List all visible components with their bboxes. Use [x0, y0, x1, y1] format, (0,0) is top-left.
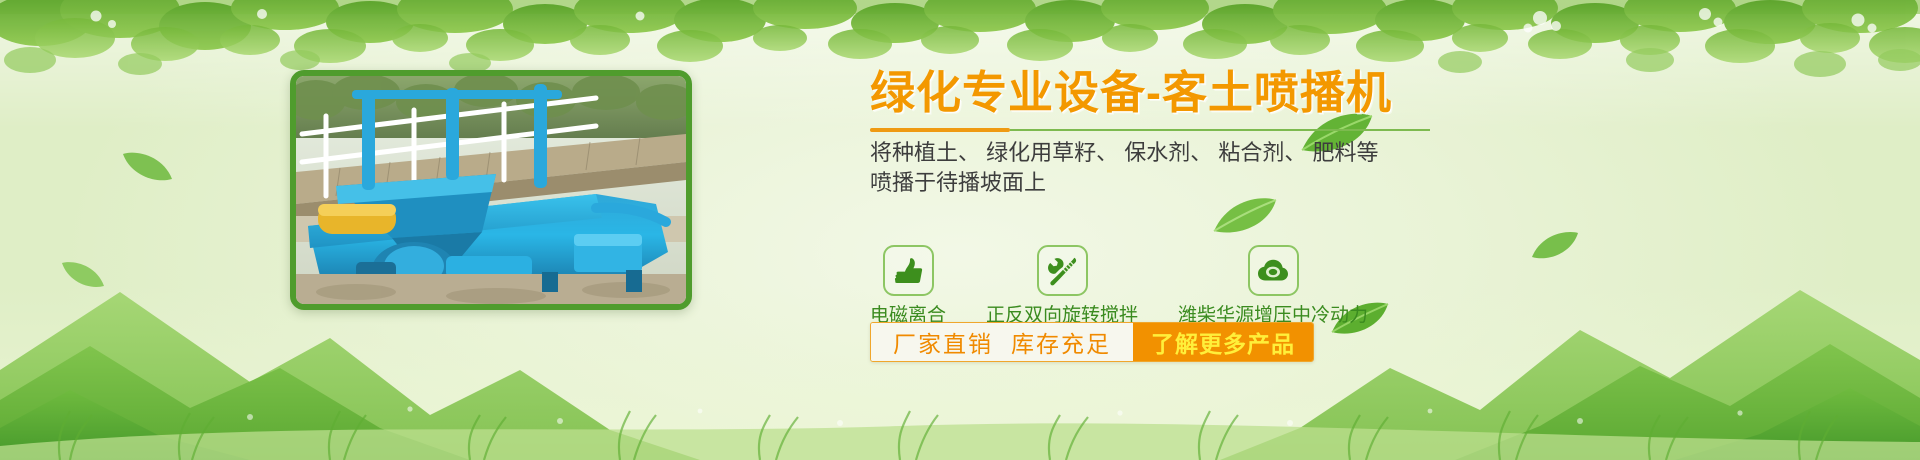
feature-icon-box — [883, 245, 934, 296]
cta-slogan-part-1: 厂家直销 — [893, 325, 993, 359]
wrench-screwdriver-icon — [1047, 256, 1078, 286]
promo-banner: 绿化专业设备-客土喷播机 将种植土、 绿化用草籽、 保水剂、 粘合剂、 肥料等 … — [0, 0, 1920, 460]
cta-slogan-part-2: 库存充足 — [1011, 325, 1111, 359]
engine-power-icon — [1257, 258, 1289, 284]
learn-more-button[interactable]: 了解更多产品 — [1133, 323, 1313, 361]
cta-slogan: 厂家直销 库存充足 — [871, 323, 1133, 361]
subtitle-line-1: 将种植土、 绿化用草籽、 保水剂、 粘合剂、 肥料等 — [870, 138, 1770, 168]
grass-decoration — [0, 365, 1920, 460]
page-title: 绿化专业设备-客土喷播机 — [870, 66, 1770, 120]
floating-leaf-icon — [120, 150, 174, 184]
thumbs-up-icon — [893, 257, 923, 285]
floating-leaf-icon — [60, 260, 106, 290]
banner-copy: 绿化专业设备-客土喷播机 将种植土、 绿化用草籽、 保水剂、 粘合剂、 肥料等 … — [870, 66, 1770, 198]
feature-item-bidirectional-mixing: 正反双向旋转搅拌 — [986, 245, 1138, 327]
feature-icon-box — [1248, 245, 1299, 296]
feature-list: 电磁离合 正反双向旋转搅拌 — [870, 245, 1770, 327]
feature-icon-box — [1037, 245, 1088, 296]
subtitle-line-2: 喷播于待播坡面上 — [870, 168, 1770, 198]
floating-leaf-icon — [1212, 195, 1278, 237]
title-divider — [870, 128, 1430, 132]
divider-green-segment — [1010, 129, 1430, 131]
feature-item-electromagnetic-clutch: 电磁离合 — [870, 245, 946, 327]
product-photo-frame — [290, 70, 692, 310]
divider-orange-segment — [870, 128, 1010, 132]
product-photo — [296, 76, 686, 304]
cta-bar[interactable]: 厂家直销 库存充足 了解更多产品 — [870, 322, 1314, 362]
feature-item-weichai-engine-power: 潍柴华源增压中冷动力 — [1178, 245, 1368, 327]
